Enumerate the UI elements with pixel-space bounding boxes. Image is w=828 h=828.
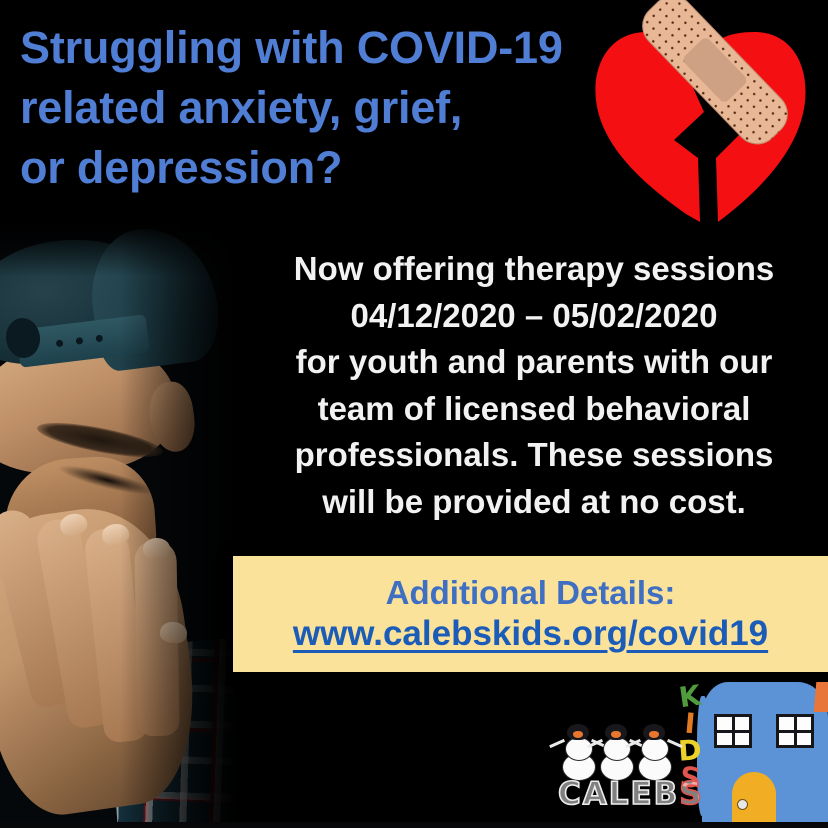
bottom-border [0,822,828,828]
snow-figure-icon [638,724,670,782]
covid-therapy-flyer: Struggling with COVID-19 related anxiety… [0,0,828,828]
body-line-6: will be provided at no cost. [244,479,824,526]
body-line-4: team of licensed behavioral [244,386,824,433]
house-icon [702,682,828,824]
headline-line-2: related anxiety, grief, [20,82,462,133]
body-line-1: Now offering therapy sessions [244,246,824,293]
page-title: Struggling with COVID-19 related anxiety… [20,18,630,198]
chimney-icon [814,682,828,712]
additional-details-banner: Additional Details: www.calebskids.org/c… [233,556,828,672]
window-icon [714,714,752,748]
additional-details-label: Additional Details: [386,575,676,611]
body-line-5: professionals. These sessions [244,432,824,479]
door-icon [732,772,776,828]
calebs-wordmark-s: S [679,776,703,812]
snow-figure-icon [600,724,632,782]
headline-line-3: or depression? [20,142,342,193]
window-icon [776,714,814,748]
calebs-kids-logo[interactable]: K I D S CALEBS [556,676,828,824]
offer-description: Now offering therapy sessions 04/12/2020… [244,246,824,525]
snow-figure-icon [562,724,594,782]
calebs-wordmark: CALEBS [558,776,708,812]
body-line-2-date-range: 04/12/2020 – 05/02/2020 [244,293,824,340]
headline-line-1: Struggling with COVID-19 [20,22,563,73]
website-link[interactable]: www.calebskids.org/covid19 [293,615,768,654]
distressed-man-photo [0,222,250,828]
calebs-wordmark-main: CALEB [558,776,679,812]
fingernail [143,538,171,560]
body-line-3: for youth and parents with our [244,339,824,386]
